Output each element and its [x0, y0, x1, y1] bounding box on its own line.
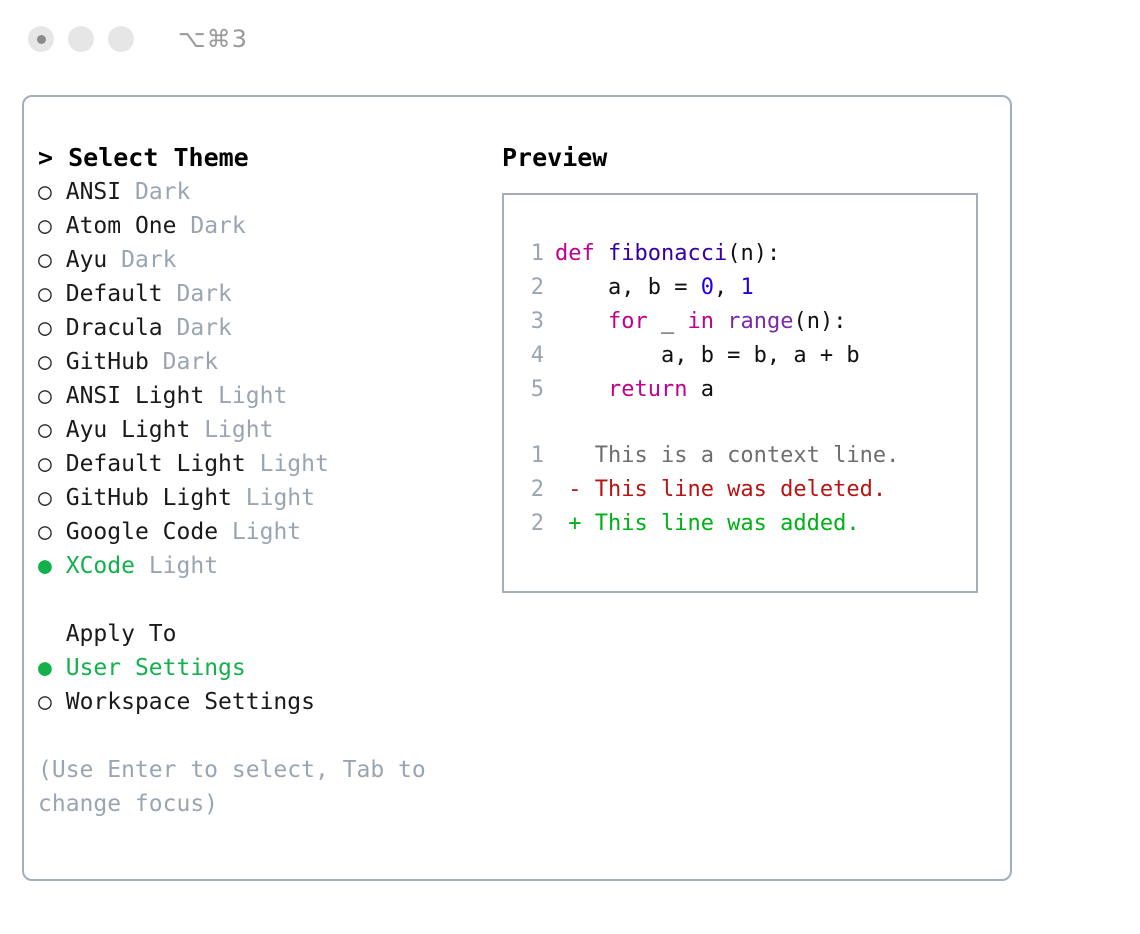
diff-line-text: - This line was deleted. [555, 477, 886, 502]
theme-option-label: ANSI [66, 179, 121, 205]
line-number: 2 [522, 271, 544, 305]
radio-unselected-icon: ○ [38, 383, 52, 409]
theme-selection-column: > Select Theme ○ ANSI Dark○ Atom One Dar… [38, 141, 478, 821]
theme-option-kind: Dark [135, 179, 190, 205]
radio-unselected-icon: ○ [38, 689, 52, 715]
radio-unselected-icon: ○ [38, 417, 52, 443]
theme-option-kind: Light [232, 519, 301, 545]
theme-option-label: Dracula [66, 315, 163, 341]
radio-unselected-icon: ○ [38, 519, 52, 545]
code-token: for [608, 309, 648, 334]
theme-option-kind: Light [246, 485, 315, 511]
line-number: 3 [522, 305, 544, 339]
preview-heading: Preview [502, 141, 992, 175]
code-token: a, b = [555, 275, 701, 300]
apply-to-option-label: Workspace Settings [66, 689, 315, 715]
keyboard-hint: (Use Enter to select, Tab to change focu… [38, 753, 438, 821]
radio-unselected-icon: ○ [38, 179, 52, 205]
theme-picker-panel: > Select Theme ○ ANSI Dark○ Atom One Dar… [22, 95, 1012, 881]
code-token: (n): [727, 241, 780, 266]
theme-option[interactable]: ○ Ayu Light Light [38, 413, 478, 447]
preview-column: Preview 1def fibonacci(n):2 a, b = 0, 13… [502, 141, 992, 593]
diff-line-text: This is a context line. [555, 443, 899, 468]
apply-to-option-label: User Settings [66, 655, 246, 681]
line-number: 2 [522, 507, 544, 541]
theme-option[interactable]: ○ ANSI Light Light [38, 379, 478, 413]
radio-unselected-icon: ○ [38, 281, 52, 307]
code-token: range [727, 309, 793, 334]
code-token [714, 309, 727, 334]
line-number: 2 [522, 473, 544, 507]
apply-to-option[interactable]: ○ Workspace Settings [38, 685, 478, 719]
code-token: a, b = b, a + b [555, 343, 860, 368]
code-token [555, 377, 608, 402]
code-token: a [687, 377, 714, 402]
record-dot[interactable] [28, 26, 54, 52]
radio-selected-icon: ● [38, 655, 52, 681]
radio-unselected-icon: ○ [38, 349, 52, 375]
code-line: 4 a, b = b, a + b [522, 339, 976, 373]
code-token: _ [648, 309, 688, 334]
code-token: 1 [740, 275, 753, 300]
theme-option-label: XCode [66, 553, 135, 579]
radio-unselected-icon: ○ [38, 451, 52, 477]
theme-option[interactable]: ○ Atom One Dark [38, 209, 478, 243]
code-token: def [555, 241, 608, 266]
diff-line-text: + This line was added. [555, 511, 860, 536]
apply-to-option[interactable]: ● User Settings [38, 651, 478, 685]
theme-option-kind: Light [204, 417, 273, 443]
theme-option-label: Google Code [66, 519, 218, 545]
theme-option[interactable]: ○ GitHub Dark [38, 345, 478, 379]
theme-option[interactable]: ● XCode Light [38, 549, 478, 583]
apply-to-heading: Apply To [38, 617, 478, 651]
diff-line: 2 + This line was added. [522, 507, 976, 541]
theme-option-kind: Light [260, 451, 329, 477]
theme-option[interactable]: ○ GitHub Light Light [38, 481, 478, 515]
code-line: 2 a, b = 0, 1 [522, 271, 976, 305]
diff-line: 2 - This line was deleted. [522, 473, 976, 507]
code-line: 5 return a [522, 373, 976, 407]
theme-option-label: Ayu [66, 247, 108, 273]
diff-gap [522, 407, 976, 439]
line-number: 1 [522, 237, 544, 271]
radio-selected-icon: ● [38, 553, 52, 579]
radio-unselected-icon: ○ [38, 213, 52, 239]
line-number: 5 [522, 373, 544, 407]
theme-option-label: GitHub [66, 349, 149, 375]
theme-option[interactable]: ○ Ayu Dark [38, 243, 478, 277]
title-bar: ⌥⌘3 [0, 0, 1140, 78]
code-token [555, 309, 608, 334]
code-line: 1def fibonacci(n): [522, 237, 976, 271]
code-token: return [608, 377, 687, 402]
list-spacer [38, 583, 478, 617]
theme-option-label: GitHub Light [66, 485, 232, 511]
radio-unselected-icon: ○ [38, 247, 52, 273]
theme-option-kind: Dark [177, 315, 232, 341]
theme-list: ○ ANSI Dark○ Atom One Dark○ Ayu Dark○ De… [38, 175, 478, 583]
theme-option-label: Default [66, 281, 163, 307]
preview-box: 1def fibonacci(n):2 a, b = 0, 13 for _ i… [502, 193, 978, 593]
theme-option[interactable]: ○ Default Light Light [38, 447, 478, 481]
theme-option-label: Default Light [66, 451, 246, 477]
code-token: , [714, 275, 741, 300]
theme-option[interactable]: ○ Default Dark [38, 277, 478, 311]
theme-option[interactable]: ○ Google Code Light [38, 515, 478, 549]
line-number: 4 [522, 339, 544, 373]
line-number: 1 [522, 439, 544, 473]
app-window: ⌥⌘3 > Select Theme ○ ANSI Dark○ Atom One… [0, 0, 1140, 934]
select-theme-heading: > Select Theme [38, 141, 478, 175]
theme-option-kind: Light [149, 553, 218, 579]
theme-option[interactable]: ○ ANSI Dark [38, 175, 478, 209]
code-token: 0 [701, 275, 714, 300]
apply-to-label: Apply To [66, 621, 177, 647]
code-token: (n): [793, 309, 846, 334]
theme-option-kind: Dark [177, 281, 232, 307]
theme-option[interactable]: ○ Dracula Dark [38, 311, 478, 345]
theme-option-kind: Dark [190, 213, 245, 239]
diff-sample: 1 This is a context line.2 - This line w… [522, 439, 976, 541]
code-line: 3 for _ in range(n): [522, 305, 976, 339]
keyboard-shortcut-label: ⌥⌘3 [178, 27, 248, 51]
record-dot-inner [37, 35, 46, 44]
code-sample: 1def fibonacci(n):2 a, b = 0, 13 for _ i… [522, 237, 976, 407]
dot-two[interactable] [68, 26, 94, 52]
radio-unselected-icon: ○ [38, 485, 52, 511]
theme-option-kind: Dark [121, 247, 176, 273]
code-token: in [687, 309, 714, 334]
radio-unselected-icon: ○ [38, 315, 52, 341]
theme-option-label: Atom One [66, 213, 177, 239]
code-token: fibonacci [608, 241, 727, 266]
theme-option-kind: Light [218, 383, 287, 409]
theme-option-kind: Dark [163, 349, 218, 375]
theme-option-label: ANSI Light [66, 383, 204, 409]
diff-line: 1 This is a context line. [522, 439, 976, 473]
dot-three[interactable] [108, 26, 134, 52]
theme-option-label: Ayu Light [66, 417, 191, 443]
apply-to-list: ● User Settings○ Workspace Settings [38, 651, 478, 719]
